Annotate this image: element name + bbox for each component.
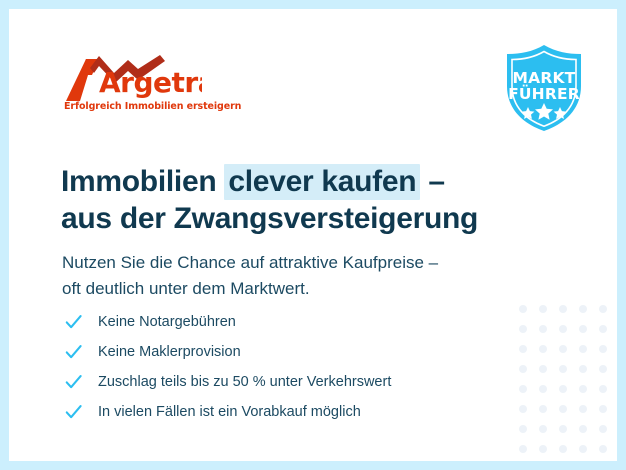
check-icon (64, 313, 83, 332)
decorative-dot (519, 385, 527, 393)
market-leader-badge: MARKT FÜHRER (498, 42, 590, 134)
decorative-dot (599, 405, 607, 413)
decorative-dot (599, 365, 607, 373)
decorative-dot (519, 445, 527, 453)
decorative-dot (599, 425, 607, 433)
list-item-label: Zuschlag teils bis zu 50 % unter Verkehr… (98, 373, 391, 392)
check-icon (64, 343, 83, 362)
headline-line1-after: – (420, 165, 444, 198)
decorative-dot (579, 305, 587, 313)
list-item: In vielen Fällen ist ein Vorabkauf mögli… (62, 397, 492, 427)
check-icon (64, 373, 83, 392)
decorative-dot (559, 425, 567, 433)
decorative-dot (579, 425, 587, 433)
argetra-logo-mark: Argetra (62, 53, 202, 101)
decorative-dot (579, 345, 587, 353)
decorative-dot (539, 365, 547, 373)
decorative-dot (579, 445, 587, 453)
decorative-dot (579, 325, 587, 333)
decorative-dot (599, 385, 607, 393)
decorative-dot (539, 405, 547, 413)
decorative-dot (599, 345, 607, 353)
decorative-dot-grid (519, 305, 617, 461)
promo-card: Argetra Erfolgreich Immobilien ersteiger… (9, 9, 617, 461)
decorative-dot (579, 405, 587, 413)
shield-icon: MARKT FÜHRER (498, 42, 590, 134)
decorative-dot (559, 365, 567, 373)
subheadline: Nutzen Sie die Chance auf attraktive Kau… (62, 250, 542, 302)
decorative-dot (539, 325, 547, 333)
headline: Immobilien clever kaufen – aus der Zwang… (61, 163, 531, 237)
list-item-label: Keine Notargebühren (98, 313, 236, 332)
decorative-dot (539, 445, 547, 453)
decorative-dot (539, 305, 547, 313)
decorative-dot (559, 305, 567, 313)
decorative-dot (519, 405, 527, 413)
decorative-dot (599, 305, 607, 313)
decorative-dot (519, 345, 527, 353)
list-item: Keine Maklerprovision (62, 337, 492, 367)
list-item-label: In vielen Fällen ist ein Vorabkauf mögli… (98, 403, 361, 422)
decorative-dot (539, 385, 547, 393)
decorative-dot (539, 425, 547, 433)
decorative-dot (599, 445, 607, 453)
list-item: Keine Notargebühren (62, 307, 492, 337)
svg-text:Argetra: Argetra (99, 66, 202, 99)
decorative-dot (579, 385, 587, 393)
check-icon (64, 403, 83, 422)
page-frame: Argetra Erfolgreich Immobilien ersteiger… (0, 0, 626, 470)
subheadline-line1: Nutzen Sie die Chance auf attraktive Kau… (62, 253, 438, 272)
decorative-dot (579, 365, 587, 373)
headline-highlight: clever kaufen (224, 164, 420, 200)
subheadline-line2: oft deutlich unter dem Marktwert. (62, 279, 310, 298)
decorative-dot (559, 325, 567, 333)
logo-tagline: Erfolgreich Immobilien ersteigern (64, 101, 241, 112)
headline-line2: aus der Zwangsversteigerung (61, 202, 478, 235)
decorative-dot (539, 345, 547, 353)
decorative-dot (519, 365, 527, 373)
decorative-dot (559, 345, 567, 353)
decorative-dot (559, 445, 567, 453)
decorative-dot (519, 325, 527, 333)
decorative-dot (519, 425, 527, 433)
headline-line1-before: Immobilien (61, 165, 224, 198)
benefit-list: Keine Notargebühren Keine Maklerprovisio… (62, 307, 492, 427)
list-item: Zuschlag teils bis zu 50 % unter Verkehr… (62, 367, 492, 397)
list-item-label: Keine Maklerprovision (98, 343, 241, 362)
badge-line2: FÜHRER (508, 84, 580, 103)
decorative-dot (519, 305, 527, 313)
decorative-dot (559, 385, 567, 393)
decorative-dot (559, 405, 567, 413)
decorative-dot (599, 325, 607, 333)
argetra-logo[interactable]: Argetra Erfolgreich Immobilien ersteiger… (62, 53, 207, 115)
